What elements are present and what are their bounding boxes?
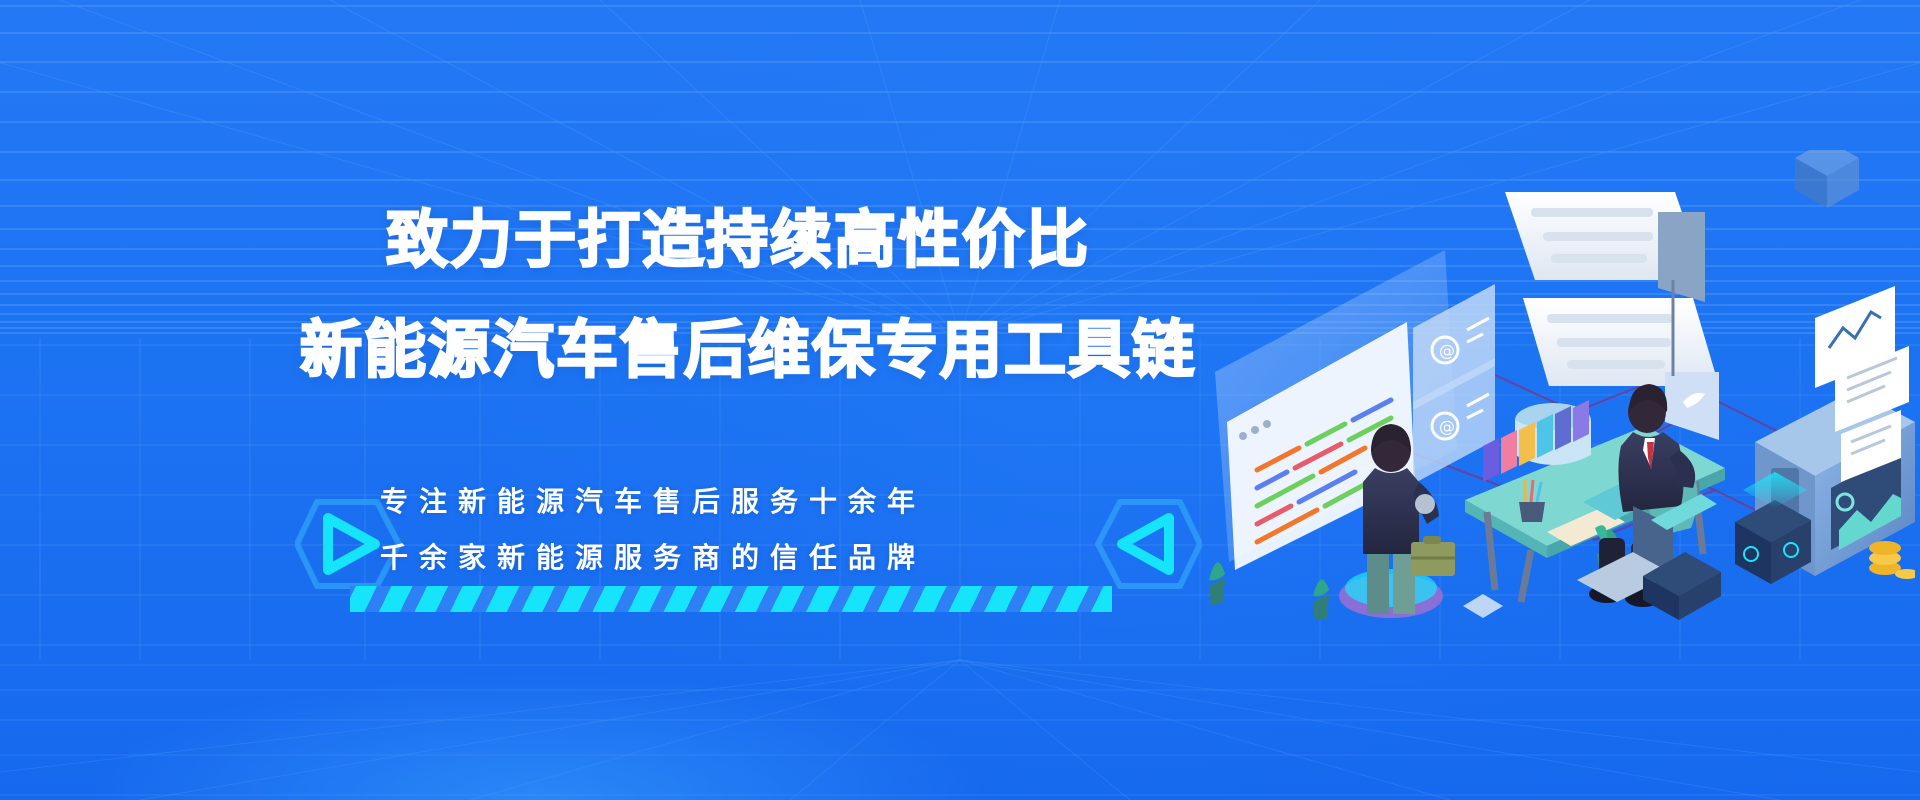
- svg-text:@: @: [1439, 417, 1455, 436]
- hero-banner: 致力于打造持续高性价比 新能源汽车售后维保专用工具链 专注新能源汽车售后服务十余…: [0, 0, 1920, 800]
- data-cube: [1735, 472, 1811, 584]
- decorative-plant: [1313, 579, 1329, 620]
- isometric-office-illustration: @ @: [1195, 150, 1915, 620]
- subtitle-line-1: 专注新能源汽车售后服务十余年: [380, 480, 926, 520]
- headline-line-1: 致力于打造持续高性价比: [386, 205, 1090, 277]
- chat-bubble-card: [1505, 192, 1705, 302]
- coin-stack: [1869, 541, 1915, 579]
- play-arrow-left-hexagon-icon: [1092, 488, 1202, 600]
- bird-icon-card: [1665, 372, 1719, 440]
- diagonal-stripe-bar: [350, 586, 1112, 612]
- headline-line-2: 新能源汽车售后维保专用工具链: [300, 315, 1196, 387]
- decorative-plant: [1209, 562, 1225, 606]
- svg-text:@: @: [1439, 341, 1455, 360]
- subtitle-line-2: 千余家新能源服务商的信任品牌: [380, 536, 926, 576]
- banner-text-block: 致力于打造持续高性价比 新能源汽车售后维保专用工具链 专注新能源汽车售后服务十余…: [0, 0, 1230, 800]
